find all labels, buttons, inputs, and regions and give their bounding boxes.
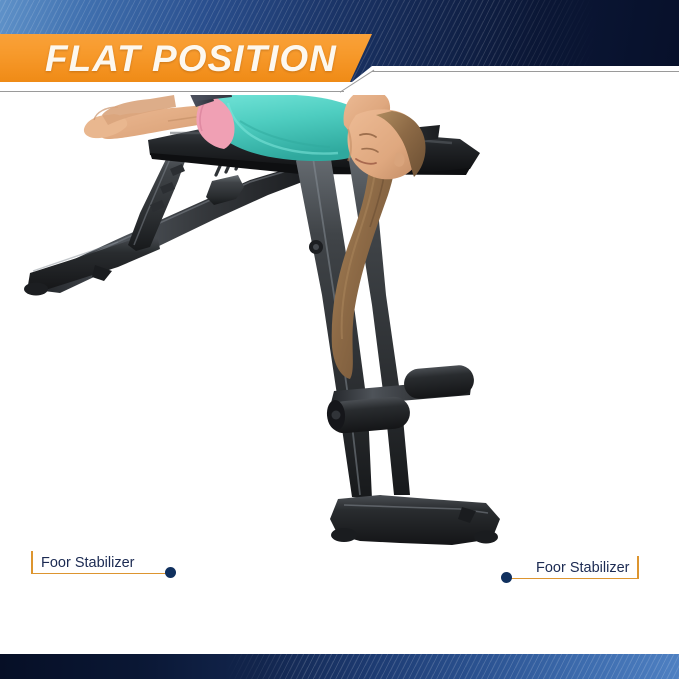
page-title: FLAT POSITION xyxy=(45,40,337,77)
product-feature-card: FLAT POSITION xyxy=(0,0,679,679)
callout-left-label: Foor Stabilizer xyxy=(41,556,134,571)
callout-right-dot xyxy=(501,572,512,583)
header-rule-left xyxy=(0,91,344,92)
bench-floor-stabilizer-right xyxy=(330,495,500,545)
callout-left-bracket-vertical xyxy=(31,551,33,574)
callout-right-bracket-horizontal xyxy=(509,578,639,580)
bottom-band-stripe-texture xyxy=(0,654,679,679)
callout-right-label: Foor Stabilizer xyxy=(536,561,629,576)
title-banner: FLAT POSITION xyxy=(0,34,372,82)
callout-right-bracket-vertical xyxy=(637,556,639,579)
header-rule-right xyxy=(372,71,679,72)
callout-left-bracket-horizontal xyxy=(31,573,168,575)
callout-left-dot xyxy=(165,567,176,578)
